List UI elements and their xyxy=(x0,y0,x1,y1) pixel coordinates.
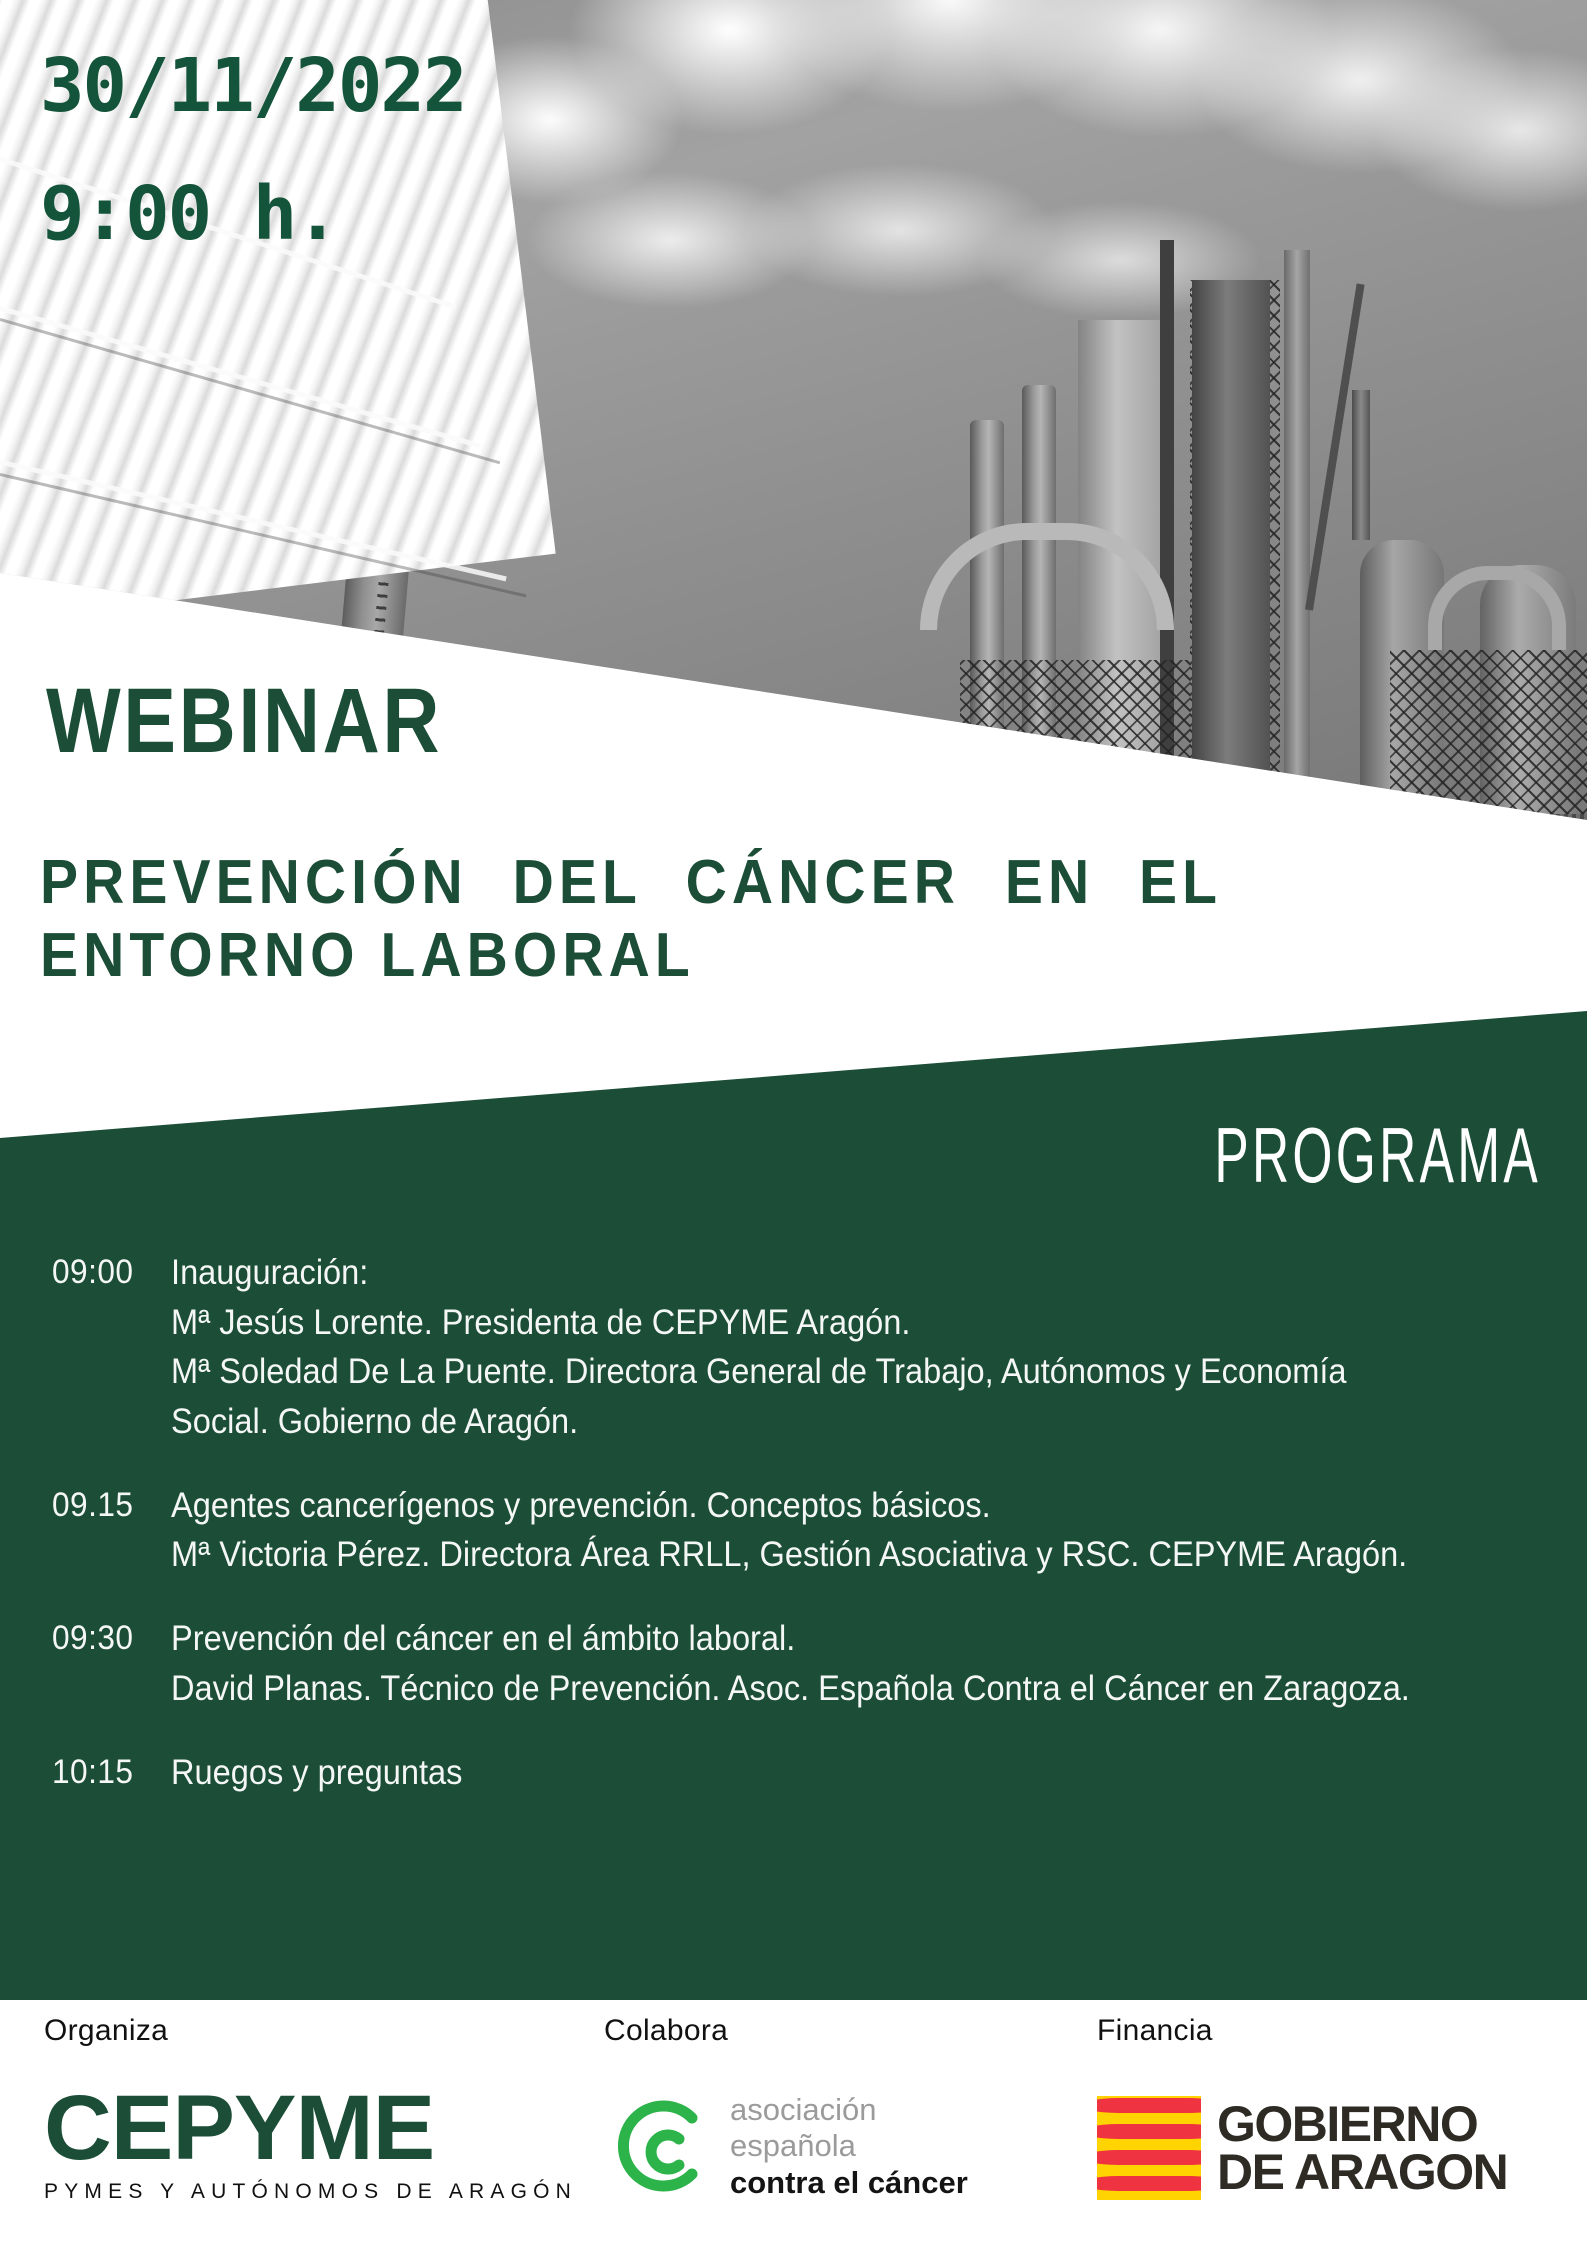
aecc-cc-monogram-icon xyxy=(604,2092,712,2200)
cepyme-tagline: PYMES Y AUTÓNOMOS DE ARAGÓN xyxy=(44,2180,577,2204)
goa-line-1: GOBIERNO xyxy=(1217,2100,1507,2149)
schedule-body: Ruegos y preguntas xyxy=(171,1748,1447,1798)
program-heading: PROGRAMA xyxy=(1214,1110,1541,1201)
event-date: 30/11/2022 xyxy=(40,48,466,126)
flag-stripe xyxy=(1097,2124,1201,2139)
sponsor-footer: Organiza CEPYME PYMES Y AUTÓNOMOS DE ARA… xyxy=(0,2000,1587,2245)
schedule-body: Inauguración: Mª Jesús Lorente. Presiden… xyxy=(171,1248,1447,1447)
schedule-row: 09.15 Agentes cancerígenos y prevención.… xyxy=(52,1481,1447,1580)
aragon-flag-icon xyxy=(1097,2096,1201,2200)
schedule-line: Mª Soledad De La Puente. Directora Gener… xyxy=(171,1347,1447,1397)
aecc-logo: asociación española contra el cáncer xyxy=(604,2092,968,2201)
flag-stripe xyxy=(1097,2176,1201,2191)
schedule-row: 09:00 Inauguración: Mª Jesús Lorente. Pr… xyxy=(52,1248,1447,1447)
cepyme-logo: CEPYME PYMES Y AUTÓNOMOS DE ARAGÓN xyxy=(44,2085,577,2204)
aecc-line-1: asociación xyxy=(730,2092,968,2128)
aecc-wordmark: asociación española contra el cáncer xyxy=(730,2092,968,2201)
schedule-line: Agentes cancerígenos y prevención. Conce… xyxy=(171,1481,1447,1531)
schedule-line: Mª Victoria Pérez. Directora Área RRLL, … xyxy=(171,1530,1447,1580)
goa-line-2: DE ARAGON xyxy=(1217,2148,1507,2197)
page-title: PREVENCIÓN DEL CÁNCER EN EL ENTORNO LABO… xyxy=(40,846,1328,992)
schedule-row: 10:15 Ruegos y preguntas xyxy=(52,1748,1447,1798)
poster-root: 30/11/2022 9:00 h. WEBINAR PREVENCIÓN DE… xyxy=(0,0,1587,2245)
event-time: 9:00 h. xyxy=(40,176,466,254)
schedule-line: Inauguración: xyxy=(171,1248,1447,1298)
schedule-time: 09:30 xyxy=(52,1614,171,1713)
event-date-time: 30/11/2022 9:00 h. xyxy=(40,48,466,253)
schedule-time: 09.15 xyxy=(52,1481,171,1580)
refinery-flare-stack xyxy=(1352,390,1370,540)
flag-stripe xyxy=(1097,2098,1201,2113)
schedule-row: 09:30 Prevención del cáncer en el ámbito… xyxy=(52,1614,1447,1713)
schedule-line: Prevención del cáncer en el ámbito labor… xyxy=(171,1614,1447,1664)
schedule-line: Mª Jesús Lorente. Presidenta de CEPYME A… xyxy=(171,1298,1447,1348)
refinery-column xyxy=(1284,250,1310,830)
organiza-caption: Organiza xyxy=(44,2014,168,2048)
refinery-column xyxy=(1192,280,1270,830)
aecc-line-2: española xyxy=(730,2128,968,2164)
page-title-line-1: PREVENCIÓN DEL CÁNCER EN EL xyxy=(40,846,1328,919)
schedule-line: Social. Gobierno de Aragón. xyxy=(171,1397,1447,1447)
schedule-time: 10:15 xyxy=(52,1748,171,1798)
kicker-webinar: WEBINAR xyxy=(46,675,442,767)
aecc-line-3: contra el cáncer xyxy=(730,2165,968,2201)
flag-stripe xyxy=(1097,2150,1201,2165)
gobierno-aragon-logo: GOBIERNO DE ARAGON xyxy=(1097,2096,1507,2200)
financia-caption: Financia xyxy=(1097,2014,1213,2048)
schedule-time: 09:00 xyxy=(52,1248,171,1447)
page-title-line-2: ENTORNO LABORAL xyxy=(40,919,1328,992)
schedule-line: David Planas. Técnico de Prevención. Aso… xyxy=(171,1664,1447,1714)
cepyme-wordmark: CEPYME xyxy=(44,2085,588,2172)
schedule-line: Ruegos y preguntas xyxy=(171,1748,1447,1798)
schedule-body: Prevención del cáncer en el ámbito labor… xyxy=(171,1614,1447,1713)
gobierno-aragon-wordmark: GOBIERNO DE ARAGON xyxy=(1217,2100,1507,2197)
schedule-body: Agentes cancerígenos y prevención. Conce… xyxy=(171,1481,1447,1580)
colabora-caption: Colabora xyxy=(604,2014,728,2048)
program-schedule: 09:00 Inauguración: Mª Jesús Lorente. Pr… xyxy=(52,1248,1447,1831)
